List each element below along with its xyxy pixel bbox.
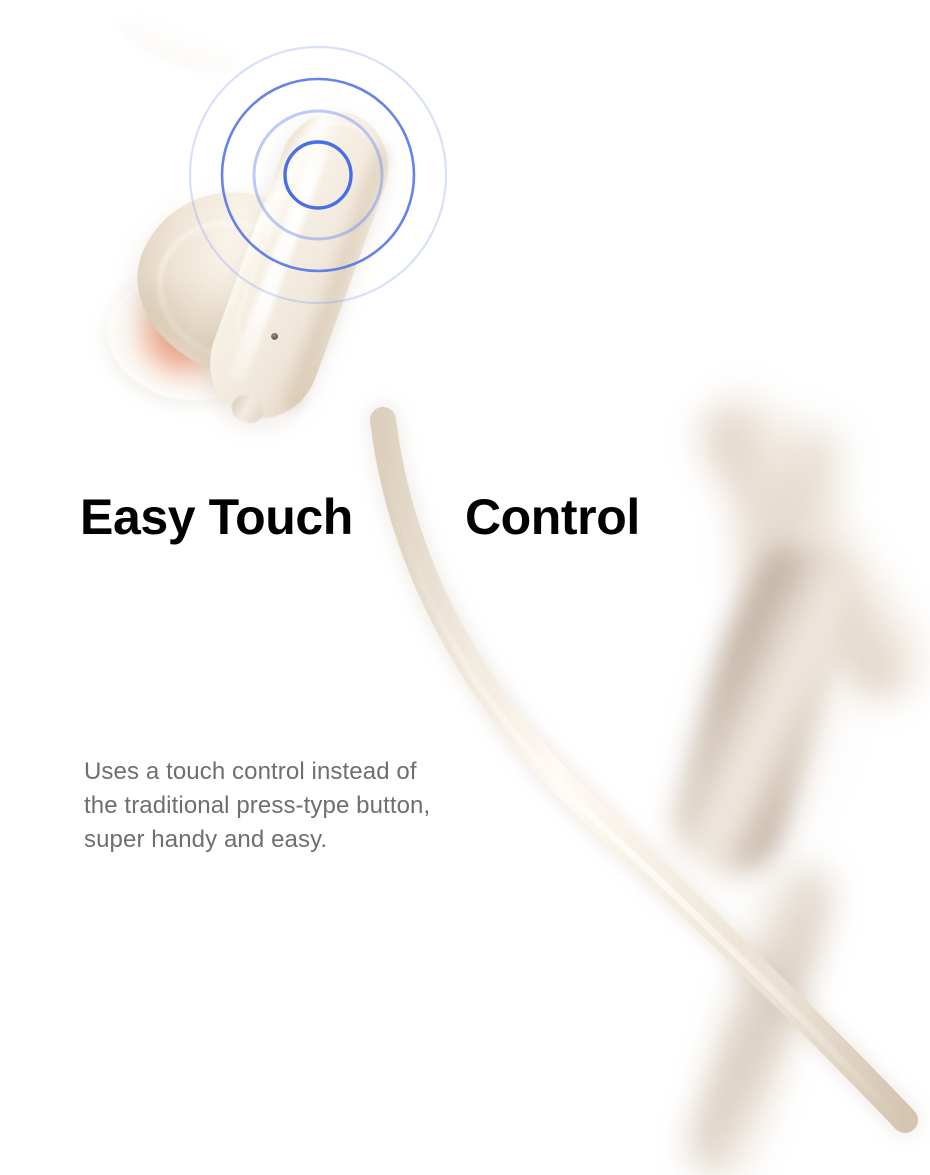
inline-remote-module [664, 537, 859, 884]
cable-collar [228, 391, 267, 426]
ear-tip-lip [113, 4, 243, 84]
blurred-cable-below-remote [682, 852, 840, 1175]
earbud [100, 30, 500, 450]
blurred-cable-arc [0, 631, 930, 1175]
description-line-1: Uses a touch control instead of [84, 755, 554, 789]
feature-description: Uses a touch control instead of the trad… [84, 755, 554, 857]
blurred-cable-right [684, 380, 930, 716]
page-title: Easy TouchControl [80, 492, 780, 542]
description-line-3: super handy and easy. [84, 823, 554, 857]
headline-part-2: Control [465, 489, 640, 545]
headline-part-1: Easy Touch [80, 489, 353, 545]
blurred-remote-glow [638, 506, 902, 935]
description-line-2: the traditional press-type button, [84, 789, 554, 823]
product-feature-banner: Easy TouchControl Uses a touch control i… [0, 0, 930, 1175]
blurred-cable-arc-highlight [0, 651, 930, 1175]
